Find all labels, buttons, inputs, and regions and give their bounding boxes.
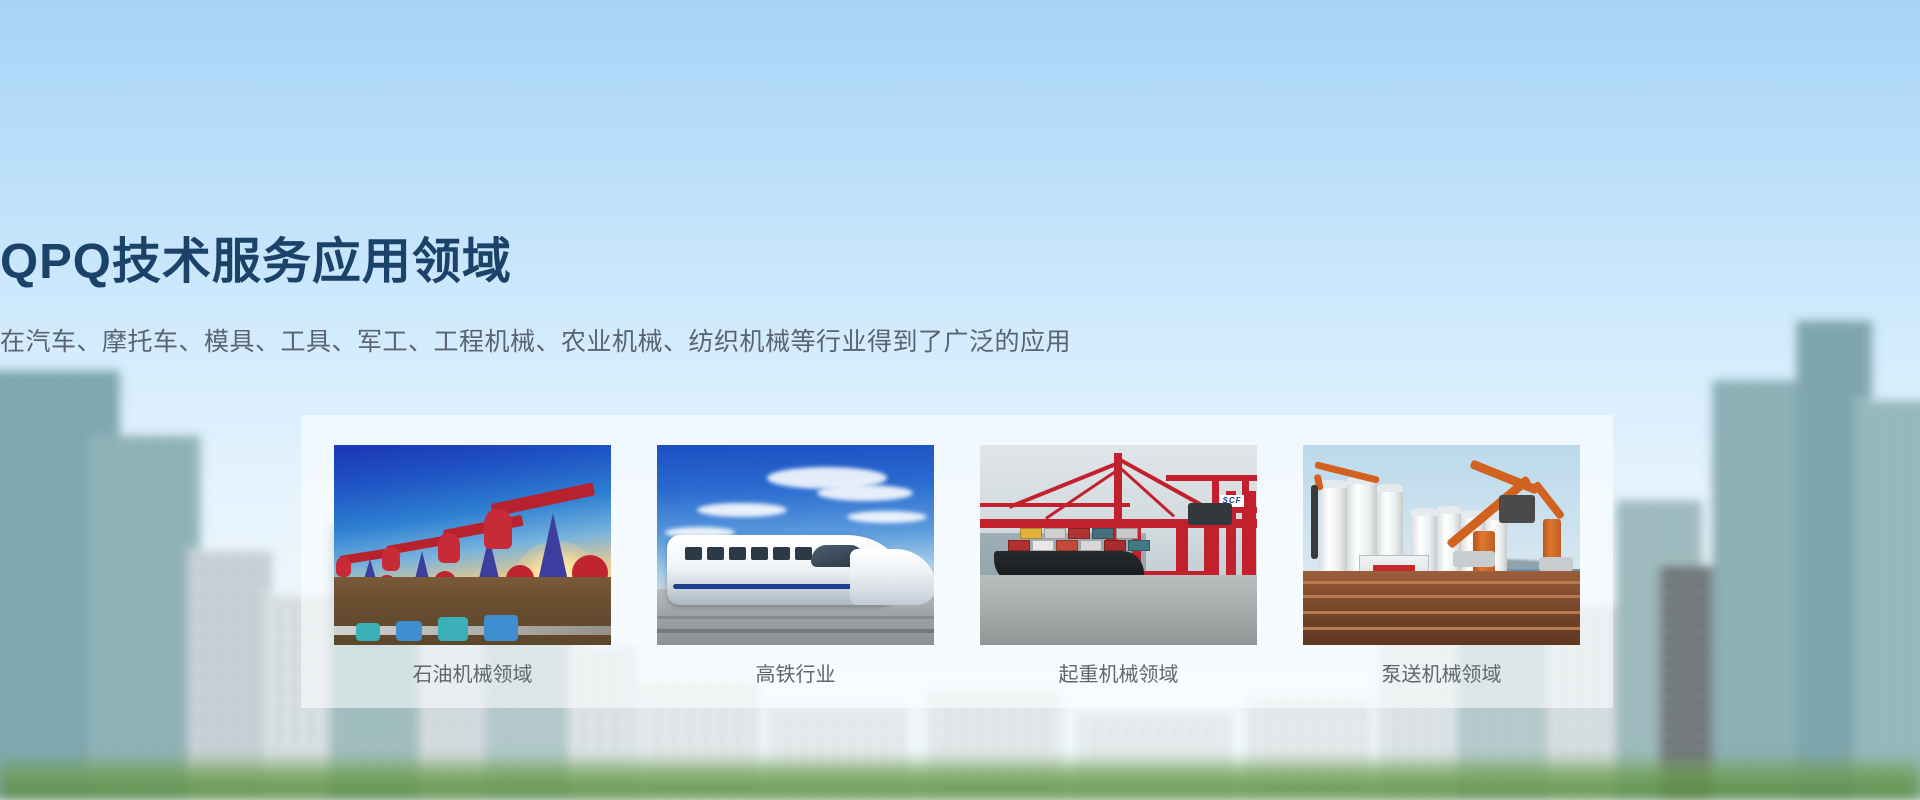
- container-box: [1032, 540, 1054, 551]
- train-window-5: [773, 547, 790, 560]
- crane-main-tie: [980, 503, 1130, 507]
- wellhead-valve-1: [356, 623, 380, 641]
- rail-far: [657, 616, 934, 619]
- tree-line: [0, 754, 1920, 800]
- rail-near: [657, 629, 934, 633]
- application-card-oil[interactable]: 石油机械领域: [334, 445, 611, 689]
- train-window-4: [751, 547, 768, 560]
- train-window-6: [795, 547, 812, 560]
- train-nose: [850, 549, 934, 605]
- crane-operator-cabin: [1188, 503, 1232, 525]
- cloud-icon-5: [847, 511, 927, 523]
- application-card-label: 高铁行业: [657, 661, 934, 689]
- train-window-2: [707, 547, 724, 560]
- rebar-rail-4: [1303, 627, 1580, 630]
- application-card-train[interactable]: 高铁行业: [657, 445, 934, 689]
- page-title: QPQ技术服务应用领域: [0, 233, 1920, 291]
- cloud-icon-3: [697, 503, 787, 517]
- container-box: [1104, 540, 1126, 551]
- pump-pipe-left: [1311, 485, 1318, 559]
- building-left-2: [92, 435, 200, 800]
- page-subtitle: 在汽车、摩托车、模具、工具、军工、工程机械、农业机械、纺织机械等行业得到了广泛的…: [0, 325, 1920, 359]
- rebar-deck: [1303, 571, 1580, 645]
- building-right-8: [1856, 400, 1920, 800]
- application-card-pump[interactable]: 泵送机械领域: [1303, 445, 1580, 689]
- train-window-1: [685, 547, 702, 560]
- port-gantry-crane-photo[interactable]: SCF SCF: [980, 445, 1257, 645]
- container-box: [1068, 528, 1090, 539]
- high-speed-train-photo[interactable]: [657, 445, 934, 645]
- application-card-crane[interactable]: SCF SCF: [980, 445, 1257, 689]
- wellhead-valve-3: [438, 617, 468, 641]
- oil-pumpjacks-photo[interactable]: [334, 445, 611, 645]
- rebar-rail-3: [1303, 611, 1580, 614]
- rebar-rail-2: [1303, 595, 1580, 598]
- application-card-label: 石油机械领域: [334, 661, 611, 689]
- wellhead-valve-4: [484, 615, 518, 641]
- container-box: [1080, 540, 1102, 551]
- application-card-label: 起重机械领域: [980, 661, 1257, 689]
- application-card-list: 石油机械领域: [334, 445, 1580, 689]
- wellhead-valve-2: [396, 621, 422, 641]
- container-box: [1116, 528, 1138, 539]
- application-card-label: 泵送机械领域: [1303, 661, 1580, 689]
- container-box: [1128, 540, 1150, 551]
- quay-deck: [980, 575, 1257, 645]
- train-window-3: [729, 547, 746, 560]
- pump-platform-basket-right: [1539, 557, 1573, 571]
- container-box: [1092, 528, 1114, 539]
- pump-platform-basket: [1453, 551, 1495, 567]
- container-box: [1044, 528, 1066, 539]
- building-right-6: [1712, 380, 1808, 800]
- train-body: [667, 535, 902, 605]
- container-box: [1008, 540, 1030, 551]
- container-box: [1020, 528, 1042, 539]
- pump-control-cabin: [1499, 495, 1535, 523]
- applications-panel: 石油机械领域: [301, 415, 1613, 708]
- container-box: [1056, 540, 1078, 551]
- cloud-icon-2: [817, 485, 913, 501]
- hero-banner: QPQ技术服务应用领域 在汽车、摩托车、模具、工具、军工、工程机械、农业机械、纺…: [0, 0, 1920, 800]
- rebar-rail-1: [1303, 581, 1580, 584]
- concrete-pump-photo[interactable]: [1303, 445, 1580, 645]
